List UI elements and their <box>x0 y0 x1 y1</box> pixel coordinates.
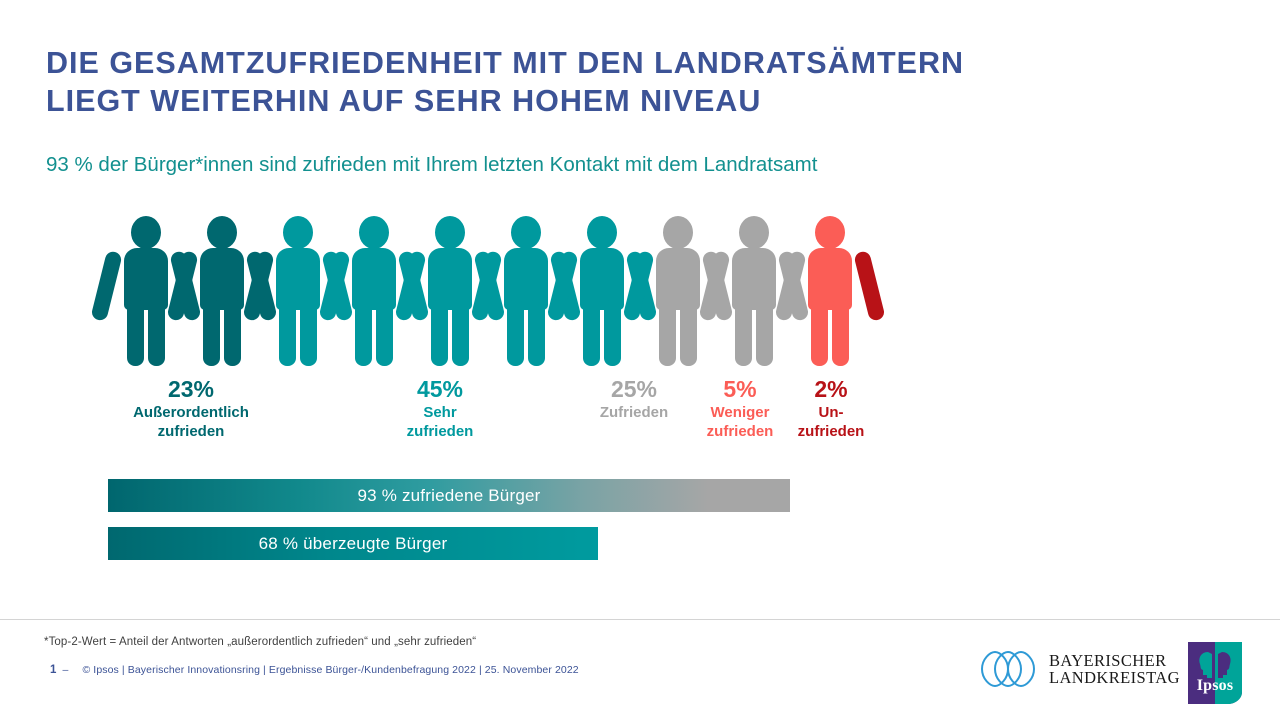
ipsos-wordmark: Ipsos <box>1188 642 1242 704</box>
segment-label-2: 45%Sehrzufrieden <box>372 376 508 441</box>
segment-percent: 5% <box>690 376 790 403</box>
figure-head <box>739 216 769 249</box>
landkreistag-line-1: BAYERISCHER <box>1049 652 1180 670</box>
pictogram-people-row <box>108 216 868 366</box>
figure-arm-left <box>90 250 122 322</box>
page-subtitle: 93 % der Bürger*innen sind zufrieden mit… <box>46 152 1226 178</box>
figure-head <box>815 216 845 249</box>
figure-leg-right <box>604 300 621 366</box>
copyright-text: © Ipsos | Bayerischer Innovationsring | … <box>82 664 578 676</box>
page-title-line-2: LIEGT WEITERHIN AUF SEHR HOHEM NIVEAU <box>46 82 1226 120</box>
figure-leg-right <box>680 300 697 366</box>
figure-head <box>663 216 693 249</box>
figure-head <box>511 216 541 249</box>
figure-leg-left <box>583 300 600 366</box>
segment-text-line-1: Außerordentlich <box>110 403 272 422</box>
segment-label-4: 5%Wenigerzufrieden <box>690 376 790 441</box>
figure-leg-left <box>279 300 296 366</box>
ipsos-wordmark-text: Ipsos <box>1197 677 1234 704</box>
figure-head <box>359 216 389 249</box>
summary-bar-convinced-label: 68 % überzeugte Bürger <box>259 534 448 554</box>
segment-percent: 45% <box>372 376 508 403</box>
figure-arm-right <box>853 250 885 322</box>
figure-leg-right <box>224 300 241 366</box>
page-number-dash: – <box>63 664 69 676</box>
landkreistag-line-2: LANDKREISTAG <box>1049 669 1180 687</box>
footer-divider <box>0 619 1280 620</box>
figure-leg-left <box>355 300 372 366</box>
page-title: DIE GESAMTZUFRIEDENHEIT MIT DEN LANDRATS… <box>46 44 1226 120</box>
figure-leg-right <box>300 300 317 366</box>
segment-label-1: 23%Außerordentlichzufrieden <box>110 376 272 441</box>
landkreistag-logo: BAYERISCHER LANDKREISTAG <box>978 650 1180 688</box>
ipsos-logo: Ipsos <box>1188 642 1242 704</box>
segment-percent: 2% <box>788 376 874 403</box>
figure-leg-right <box>376 300 393 366</box>
segment-percent: 25% <box>578 376 690 403</box>
segment-label-3: 25%Zufrieden <box>578 376 690 422</box>
segment-text-line-1: Un- <box>788 403 874 422</box>
segment-text-line-1: Sehr <box>372 403 508 422</box>
figure-head <box>207 216 237 249</box>
segment-text-line-2: zufrieden <box>110 422 272 441</box>
segment-label-5: 2%Un-zufrieden <box>788 376 874 441</box>
page-number: 1 <box>50 664 57 676</box>
summary-bar-convinced: 68 % überzeugte Bürger <box>108 527 598 560</box>
figure-leg-right <box>756 300 773 366</box>
figure-leg-right <box>452 300 469 366</box>
figure-leg-left <box>735 300 752 366</box>
figure-leg-right <box>528 300 545 366</box>
segment-percent: 23% <box>110 376 272 403</box>
copyright-line: 1 – © Ipsos | Bayerischer Innovationsrin… <box>50 664 579 676</box>
figure-leg-left <box>811 300 828 366</box>
segment-text-line-1: Zufrieden <box>578 403 690 422</box>
segment-text-line-2: zufrieden <box>690 422 790 441</box>
figure-head <box>435 216 465 249</box>
figure-head <box>131 216 161 249</box>
summary-bar-satisfied-label: 93 % zufriedene Bürger <box>357 486 540 506</box>
landkreistag-mark-icon <box>978 650 1038 688</box>
segment-labels: 23%Außerordentlichzufrieden45%Sehrzufrie… <box>0 376 1280 454</box>
figure-leg-left <box>127 300 144 366</box>
figure-head <box>587 216 617 249</box>
figure-leg-left <box>507 300 524 366</box>
figure-leg-right <box>832 300 849 366</box>
summary-bar-satisfied: 93 % zufriedene Bürger <box>108 479 790 512</box>
figure-leg-left <box>659 300 676 366</box>
figure-head <box>283 216 313 249</box>
segment-text-line-1: Weniger <box>690 403 790 422</box>
segment-text-line-2: zufrieden <box>372 422 508 441</box>
figure-leg-left <box>431 300 448 366</box>
landkreistag-wordmark: BAYERISCHER LANDKREISTAG <box>1049 652 1180 687</box>
segment-text-line-2: zufrieden <box>788 422 874 441</box>
pictogram-figure-10 <box>792 216 868 366</box>
figure-leg-left <box>203 300 220 366</box>
footnote: *Top-2-Wert = Anteil der Antworten „auße… <box>44 636 476 648</box>
page-title-line-1: DIE GESAMTZUFRIEDENHEIT MIT DEN LANDRATS… <box>46 46 964 80</box>
slide-root: DIE GESAMTZUFRIEDENHEIT MIT DEN LANDRATS… <box>0 0 1280 720</box>
figure-leg-right <box>148 300 165 366</box>
